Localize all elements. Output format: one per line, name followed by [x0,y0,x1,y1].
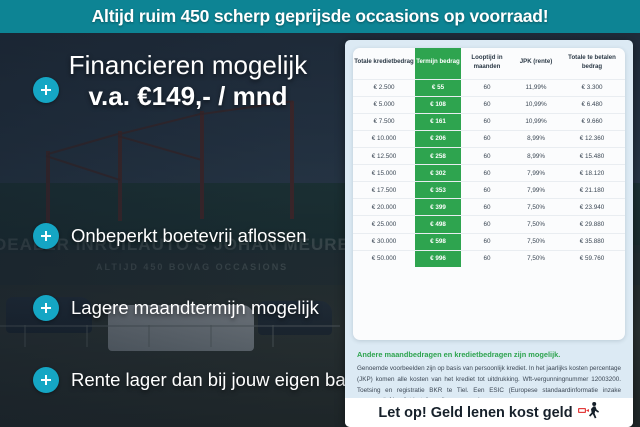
cell-krediet: € 2.500 [353,79,415,96]
table-row: € 2.500€ 556011,99%€ 3.300 [353,79,625,96]
cell-krediet: € 5.000 [353,96,415,113]
cell-looptijd: 60 [461,199,513,216]
column-header-totaal: Totale te betalen bedrag [559,48,625,79]
cell-krediet: € 30.000 [353,233,415,250]
cell-termijn: € 399 [415,199,461,216]
cell-krediet: € 12.500 [353,148,415,165]
cell-termijn: € 498 [415,216,461,233]
column-header-jkp: JPK (rente) [513,48,559,79]
cell-totaal: € 59.760 [559,250,625,267]
promo-headline-line1: Financieren mogelijk [33,50,343,81]
column-header-krediet: Totale kredietbedrag [353,48,415,79]
cell-jkp: 7,99% [513,182,559,199]
loan-warning-text: Let op! Geld lenen kost geld [378,405,572,421]
financing-info-panel: Totale kredietbedrag Termijn bedrag Loop… [345,40,633,427]
cell-looptijd: 60 [461,165,513,182]
cell-termijn: € 161 [415,113,461,130]
cell-jkp: 7,50% [513,233,559,250]
cell-looptijd: 60 [461,96,513,113]
plus-circle-icon [33,367,59,393]
cell-krediet: € 50.000 [353,250,415,267]
cell-looptijd: 60 [461,182,513,199]
notes-title: Andere maandbedragen en kredietbedragen … [357,350,621,359]
table-row: € 15.000€ 302607,99%€ 18.120 [353,165,625,182]
table-body: € 2.500€ 556011,99%€ 3.300€ 5.000€ 10860… [353,79,625,267]
cell-termijn: € 108 [415,96,461,113]
table-row: € 25.000€ 498607,50%€ 29.880 [353,216,625,233]
promo-bullet-label: Onbeperkt boetevrij aflossen [71,225,307,247]
cell-jkp: 8,99% [513,148,559,165]
cell-looptijd: 60 [461,233,513,250]
financing-table-card: Totale kredietbedrag Termijn bedrag Loop… [353,48,625,340]
table-row: € 50.000€ 996607,50%€ 59.760 [353,250,625,267]
top-promo-banner: Altijd ruim 450 scherp geprijsde occasio… [0,0,640,33]
top-banner-text: Altijd ruim 450 scherp geprijsde occasio… [92,6,549,27]
promo-bullet-3: Rente lager dan bij jouw eigen bank [33,367,365,393]
cell-termijn: € 996 [415,250,461,267]
promo-headline-line2: v.a. €149,- / mnd [33,81,343,112]
cell-krediet: € 15.000 [353,165,415,182]
cell-totaal: € 9.660 [559,113,625,130]
promo-bullet-1: Onbeperkt boetevrij aflossen [33,223,307,249]
cell-jkp: 10,99% [513,113,559,130]
promo-column: Financieren mogelijk v.a. €149,- / mnd O… [0,33,350,427]
table-row: € 10.000€ 206608,99%€ 12.360 [353,130,625,147]
table-header-row: Totale kredietbedrag Termijn bedrag Loop… [353,48,625,79]
financing-table: Totale kredietbedrag Termijn bedrag Loop… [353,48,625,267]
cell-termijn: € 258 [415,148,461,165]
cell-termijn: € 598 [415,233,461,250]
cell-looptijd: 60 [461,148,513,165]
table-row: € 20.000€ 399607,50%€ 23.940 [353,199,625,216]
cell-jkp: 7,99% [513,165,559,182]
cell-totaal: € 18.120 [559,165,625,182]
cell-krediet: € 25.000 [353,216,415,233]
cell-jkp: 11,99% [513,79,559,96]
promo-bullet-label: Rente lager dan bij jouw eigen bank [71,369,365,391]
column-header-termijn: Termijn bedrag [415,48,461,79]
cell-krediet: € 20.000 [353,199,415,216]
table-row: € 30.000€ 598607,50%€ 35.880 [353,233,625,250]
table-row: € 5.000€ 1086010,99%€ 6.480 [353,96,625,113]
promo-bullet-2: Lagere maandtermijn mogelijk [33,295,319,321]
cell-totaal: € 12.360 [559,130,625,147]
promo-bullet-label: Lagere maandtermijn mogelijk [71,297,319,319]
cell-totaal: € 15.480 [559,148,625,165]
cell-jkp: 7,50% [513,199,559,216]
cell-looptijd: 60 [461,250,513,267]
cell-termijn: € 353 [415,182,461,199]
plus-circle-icon [33,223,59,249]
table-row: € 7.500€ 1616010,99%€ 9.660 [353,113,625,130]
cell-looptijd: 60 [461,113,513,130]
cell-totaal: € 23.940 [559,199,625,216]
cell-looptijd: 60 [461,130,513,147]
cell-jkp: 7,50% [513,216,559,233]
plus-circle-icon [33,295,59,321]
cell-termijn: € 302 [415,165,461,182]
cell-jkp: 10,99% [513,96,559,113]
cell-jkp: 8,99% [513,130,559,147]
cell-looptijd: 60 [461,216,513,233]
cell-looptijd: 60 [461,79,513,96]
cell-jkp: 7,50% [513,250,559,267]
cell-krediet: € 7.500 [353,113,415,130]
cell-krediet: € 17.500 [353,182,415,199]
cell-totaal: € 21.180 [559,182,625,199]
cell-krediet: € 10.000 [353,130,415,147]
loan-warning-banner: Let op! Geld lenen kost geld [345,398,633,427]
table-row: € 12.500€ 258608,99%€ 15.480 [353,148,625,165]
cell-termijn: € 206 [415,130,461,147]
table-row: € 17.500€ 353607,99%€ 21.180 [353,182,625,199]
cell-totaal: € 35.880 [559,233,625,250]
column-header-looptijd: Looptijd in maanden [461,48,513,79]
cell-totaal: € 6.480 [559,96,625,113]
cell-totaal: € 3.300 [559,79,625,96]
cell-totaal: € 29.880 [559,216,625,233]
running-man-money-icon [578,401,600,424]
cell-termijn: € 55 [415,79,461,96]
